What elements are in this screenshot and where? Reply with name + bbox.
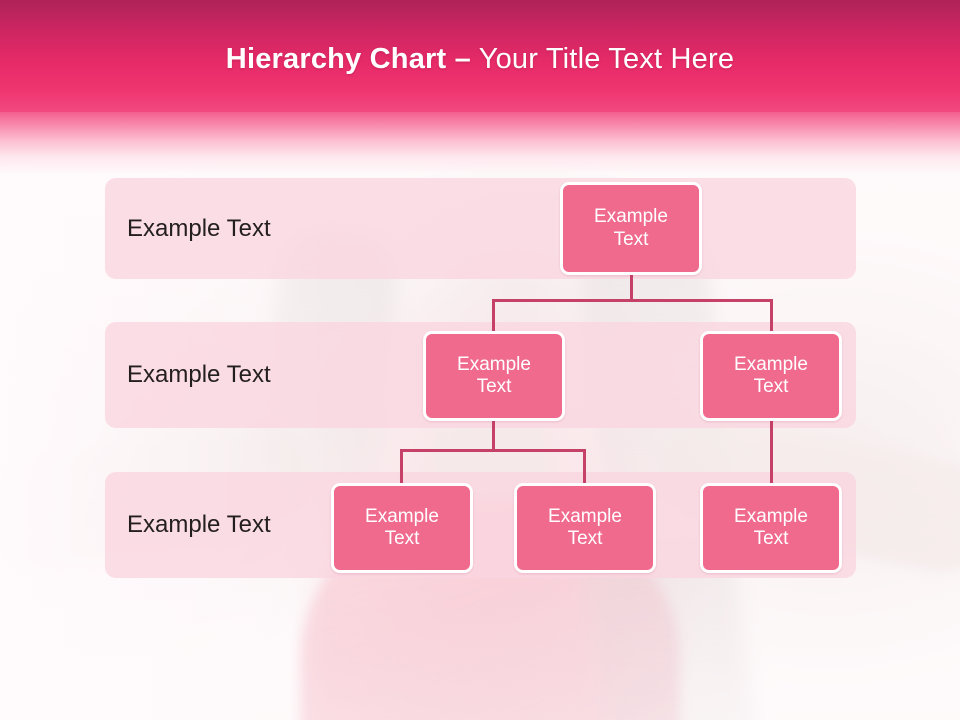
connector-n1-stem [492, 420, 495, 452]
header-gradient-fade [0, 112, 960, 174]
header-banner: Hierarchy Chart – Your Title Text Here [0, 0, 960, 118]
page-title-light: Your Title Text Here [479, 43, 734, 75]
page-title-strong: Hierarchy Chart – [226, 43, 471, 75]
hierarchy-node-n5[interactable]: Example Text [700, 483, 842, 573]
hierarchy-node-n3-line1: Example [365, 506, 439, 528]
hierarchy-node-n2-text: Example Text [734, 354, 808, 399]
hierarchy-node-n4-line2: Text [548, 528, 622, 550]
level-band-0[interactable]: Example Text [105, 178, 856, 279]
connector-n1-to-n4 [583, 449, 586, 485]
hierarchy-node-n4-text: Example Text [548, 506, 622, 551]
hierarchy-node-n5-line2: Text [734, 528, 808, 550]
hierarchy-node-n0-line2: Text [594, 229, 668, 251]
connector-n0-bus [492, 299, 773, 302]
hierarchy-node-n3-line2: Text [365, 528, 439, 550]
hierarchy-node-n4[interactable]: Example Text [514, 483, 656, 573]
connector-n0-to-n2 [770, 299, 773, 333]
level-label-1: Example Text [127, 361, 271, 389]
hierarchy-node-n1-line1: Example [457, 354, 531, 376]
hierarchy-node-n5-text: Example Text [734, 506, 808, 551]
hierarchy-node-n0-text: Example Text [594, 206, 668, 251]
page-title: Hierarchy Chart – Your Title Text Here [226, 43, 734, 76]
level-label-0: Example Text [127, 215, 271, 243]
connector-n1-bus [400, 449, 586, 452]
hierarchy-node-n0-line1: Example [594, 206, 668, 228]
hierarchy-node-n1-line2: Text [457, 376, 531, 398]
level-label-2: Example Text [127, 511, 271, 539]
hierarchy-node-n1[interactable]: Example Text [423, 331, 565, 421]
hierarchy-node-n3[interactable]: Example Text [331, 483, 473, 573]
hierarchy-node-n2[interactable]: Example Text [700, 331, 842, 421]
hierarchy-node-n3-text: Example Text [365, 506, 439, 551]
hierarchy-node-n2-line2: Text [734, 376, 808, 398]
connector-n2-to-n5 [770, 420, 773, 485]
hierarchy-node-n0[interactable]: Example Text [560, 182, 702, 275]
hierarchy-node-n1-text: Example Text [457, 354, 531, 399]
connector-n0-stem [630, 275, 633, 302]
hierarchy-node-n2-line1: Example [734, 354, 808, 376]
connector-n1-to-n3 [400, 449, 403, 485]
hierarchy-node-n5-line1: Example [734, 506, 808, 528]
slide-canvas: Hierarchy Chart – Your Title Text Here E… [0, 0, 960, 720]
connector-n0-to-n1 [492, 299, 495, 333]
hierarchy-node-n4-line1: Example [548, 506, 622, 528]
